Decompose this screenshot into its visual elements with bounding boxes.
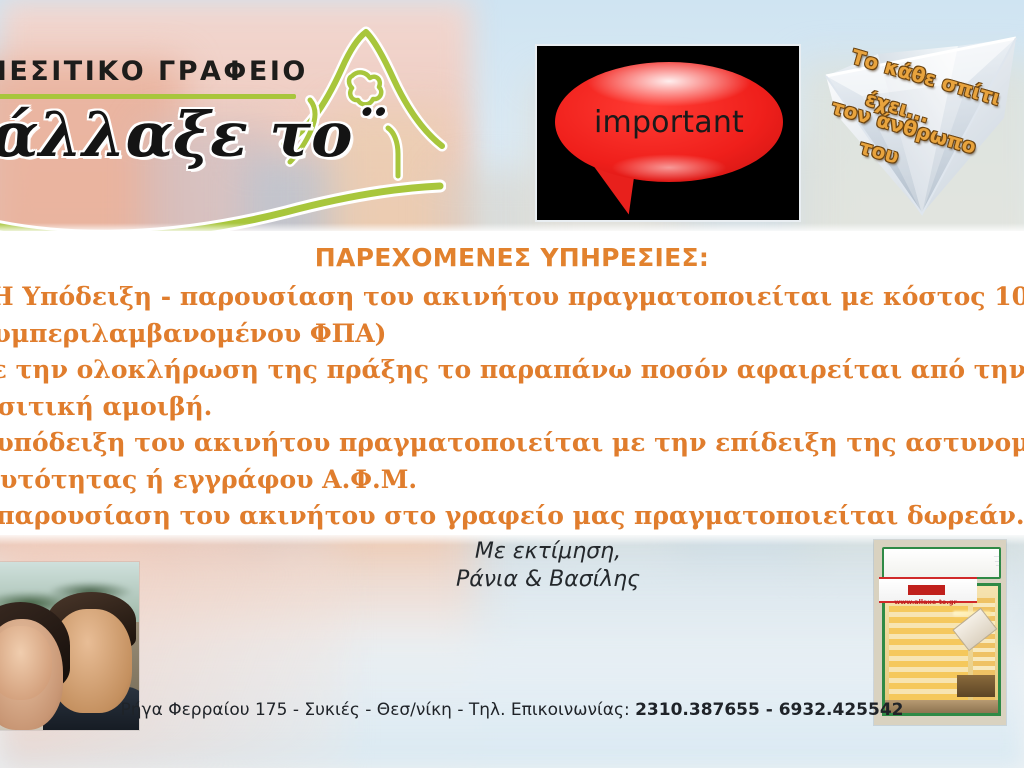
diamond-badge: Το κάθε σπίτι έχει... τον άνθρωπο του (818, 22, 1024, 220)
services-line: (Συμπεριλαμβανομένου ΦΠΑ) (0, 316, 1024, 353)
signature-line-2: Ράνια & Βασίλης (418, 566, 678, 594)
photo-woman-face (0, 626, 52, 700)
office-desk (957, 675, 995, 698)
office-sign-phone-text: ·················· (994, 555, 1001, 569)
services-line: Η παρουσίαση του ακινήτου στο γραφείο μα… (0, 498, 1024, 535)
office-url-text: www.allaxe-to.gr (874, 598, 977, 606)
services-line: Με την ολοκλήρωση της πράξης το παραπάνω… (0, 352, 1024, 389)
office-photo: ·················· άλλαξε το www.allaxe-… (874, 540, 1006, 725)
address-bar: Ρήγα Φερραίου 175 - Συκιές - Θεσ/νίκη - … (0, 700, 1024, 720)
services-line: Η Υπόδειξη - παρουσίαση του ακινήτου πρα… (0, 279, 1024, 316)
services-list: Η Υπόδειξη - παρουσίαση του ακινήτου πρα… (0, 279, 1024, 535)
address-phones: 2310.387655 - 6932.425542 (635, 700, 903, 720)
band-fade-top (0, 223, 1024, 233)
services-panel: ΠΑΡΕΧΟΜΕΝΕΣ ΥΠΗΡΕΣΙΕΣ: Η Υπόδειξη - παρο… (0, 231, 1024, 535)
diamond-icon (818, 22, 1024, 220)
important-label: important (555, 62, 783, 182)
poster-root: ΜΕΣΙΤΙΚΟ ΓΡΑΦΕΙΟ ¨άλλαξε το¨ important (0, 0, 1024, 768)
signature-block: Με εκτίμηση, Ράνια & Βασίλης (418, 538, 678, 594)
services-line: ταυτότητας ή εγγράφου Α.Φ.Μ. (0, 462, 1024, 499)
services-line: Η υπόδειξη του ακινήτου πραγματοποιείται… (0, 425, 1024, 462)
address-street: Ρήγα Φερραίου 175 - Συκιές - Θεσ/νίκη - … (121, 700, 636, 720)
signature-line-1: Με εκτίμηση, (418, 538, 678, 566)
services-title: ΠΑΡΕΧΟΜΕΝΕΣ ΥΠΗΡΕΣΙΕΣ: (0, 243, 1024, 272)
services-line: μεσιτική αμοιβή. (0, 389, 1024, 426)
office-red-label (908, 585, 945, 595)
important-badge: important (535, 44, 801, 222)
office-signboard (882, 547, 1001, 578)
brand-logo: ΜΕΣΙΤΙΚΟ ΓΡΑΦΕΙΟ ¨άλλαξε το¨ (0, 48, 446, 208)
logo-script-line: ¨άλλαξε το¨ (0, 98, 383, 171)
logo-top-line: ΜΕΣΙΤΙΚΟ ΓΡΑΦΕΙΟ (0, 56, 308, 87)
